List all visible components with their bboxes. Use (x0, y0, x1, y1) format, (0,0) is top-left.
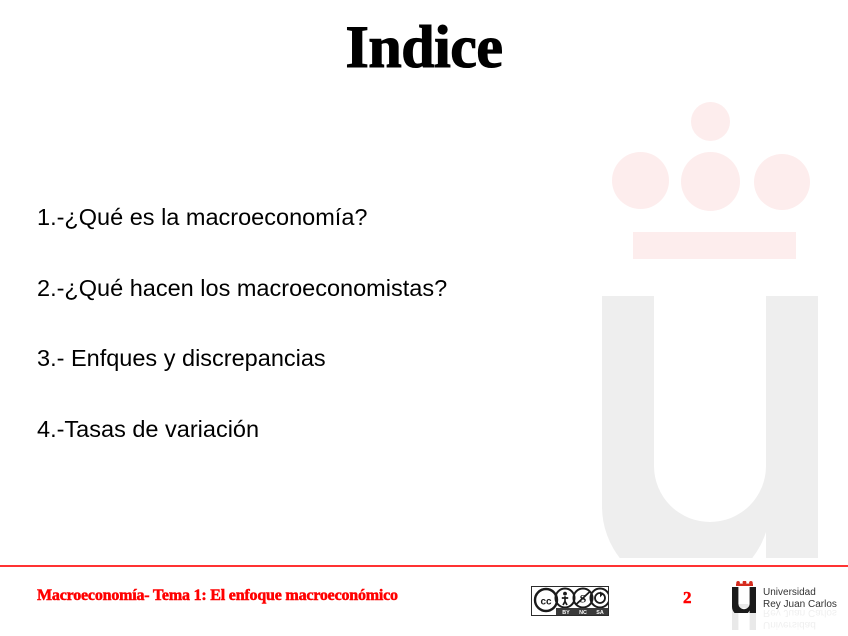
footer-divider (0, 565, 848, 567)
urjc-logo-line1: Universidad (763, 587, 837, 599)
page-title: Indice (0, 16, 848, 79)
creative-commons-license-badge[interactable]: cc S BY NC SA (531, 586, 609, 616)
watermark-crown-dot-top (691, 102, 730, 141)
list-item: 2.-¿Qué hacen los macroeconomistas? (37, 277, 597, 301)
list-item: 3.- Enfques y discrepancias (37, 347, 597, 371)
watermark-crown-base-bar (633, 232, 796, 259)
list-item: 4.-Tasas de variación (37, 418, 597, 442)
urjc-logo-text: Universidad Rey Juan Carlos (763, 587, 837, 610)
slide: Indice 1.-¿Qué es la macroeconomía? 2.-¿… (0, 0, 848, 636)
index-list: 1.-¿Qué es la macroeconomía? 2.-¿Qué hac… (37, 206, 597, 441)
page-number: 2 (683, 588, 692, 608)
crown-icon (736, 581, 753, 586)
cc-term-sa: SA (596, 610, 604, 615)
list-item: 1.-¿Qué es la macroeconomía? (37, 206, 597, 230)
watermark-crown-dot-right (754, 154, 810, 210)
svg-text:cc: cc (540, 597, 552, 608)
footer-course-title: Macroeconomía- Tema 1: El enfoque macroe… (37, 587, 398, 605)
urjc-logo-reflection: Universidad Rey Juan Carlos (727, 614, 845, 636)
cc-term-by: BY (562, 610, 570, 615)
watermark-crown-dot-middle (681, 152, 740, 211)
urjc-reflection-line1: Universidad (763, 619, 837, 631)
urjc-logo-line2: Rey Juan Carlos (763, 599, 837, 611)
urjc-logo: Universidad Rey Juan Carlos (727, 581, 845, 615)
logo-u-letter-icon (732, 587, 756, 613)
watermark-u-letter-icon (602, 296, 818, 558)
watermark-crown-dot-left (612, 152, 669, 209)
cc-term-nc: NC (579, 610, 587, 615)
